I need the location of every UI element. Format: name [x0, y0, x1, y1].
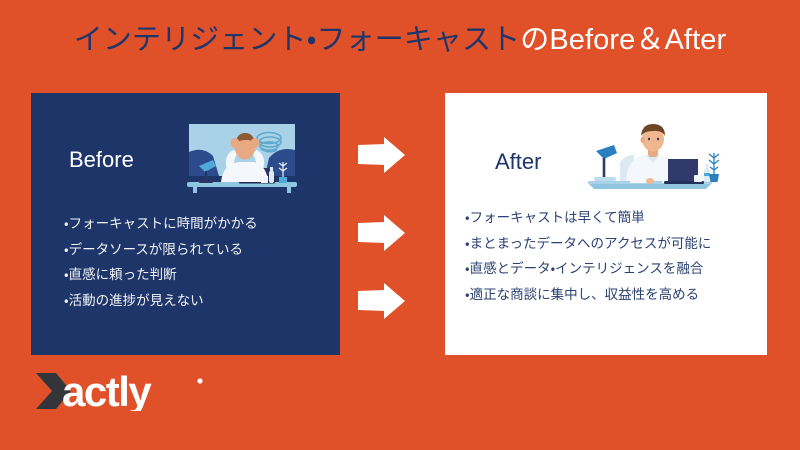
right-arrow-icon [358, 137, 405, 173]
after-panel-header: After [445, 93, 767, 198]
page-title-jp: インテリジェント・フォーキャスト [74, 24, 520, 56]
list-item: ・フォーキャストは早くて簡単 [465, 205, 765, 231]
list-item: ・直感に頼った判断 [64, 262, 334, 288]
xactly-logo: actly [34, 371, 210, 411]
stressed-person-at-desk-illustration [183, 122, 301, 199]
page-title: インテリジェント・フォーキャストのBefore＆After [0, 20, 800, 60]
after-panel: After [445, 93, 767, 355]
before-panel: Before [31, 93, 340, 355]
before-panel-header: Before [31, 93, 340, 198]
right-arrow-icon [358, 215, 405, 251]
list-item: ・活動の進捗が見えない [64, 288, 334, 314]
list-item: ・直感とデータ・インテリジェンスを融合 [465, 256, 765, 282]
svg-text:actly: actly [62, 371, 152, 411]
after-bullet-list: ・フォーキャストは早くて簡単 ・まとまったデータへのアクセスが可能に ・直感とデ… [465, 205, 765, 307]
right-arrow-icon [358, 283, 405, 319]
page-title-en: のBefore＆After [520, 24, 726, 56]
before-bullet-list: ・フォーキャストに時間がかかる ・データソースが限られている ・直感に頼った判断… [64, 211, 334, 313]
after-label: After [495, 149, 541, 175]
list-item: ・適正な商談に集中し、収益性を高める [465, 282, 765, 308]
list-item: ・データソースが限られている [64, 237, 334, 263]
slide-canvas: インテリジェント・フォーキャストのBefore＆After Before [0, 0, 800, 450]
before-label: Before [69, 147, 134, 173]
focused-person-at-desk-illustration [580, 121, 720, 200]
list-item: ・まとまったデータへのアクセスが可能に [465, 231, 765, 257]
list-item: ・フォーキャストに時間がかかる [64, 211, 334, 237]
